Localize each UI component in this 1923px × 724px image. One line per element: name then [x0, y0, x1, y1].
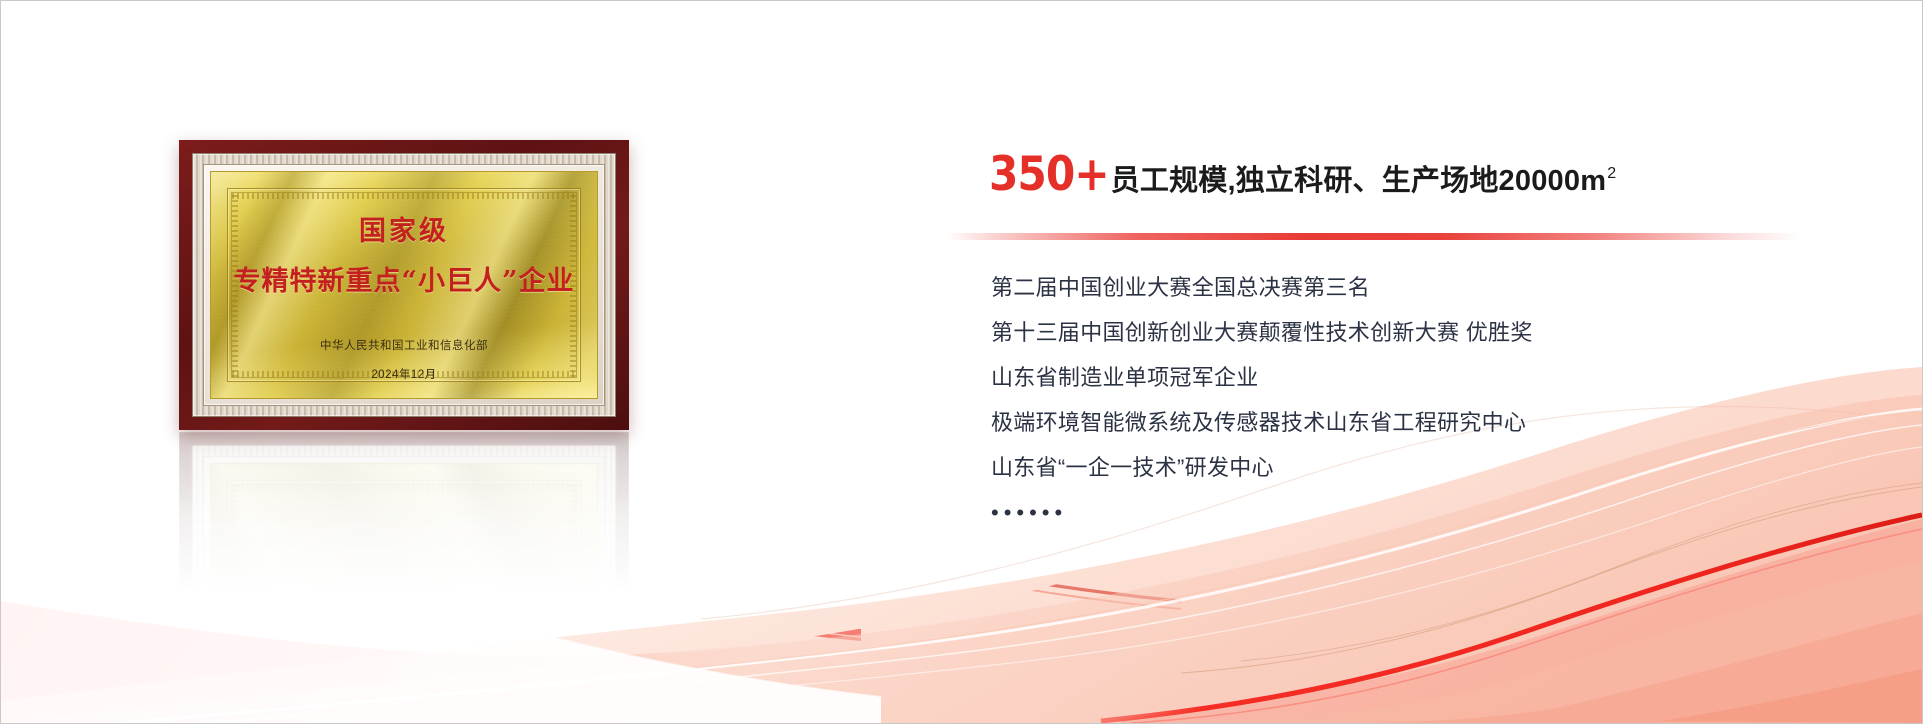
- headline-text: 员工规模,独立科研、生产场地20000m: [1111, 167, 1607, 196]
- award-plaque: 国家级 专精特新重点“小巨人”企业 中华人民共和国工业和信息化部 2024年12…: [179, 140, 629, 430]
- plaque-issuer: 中华人民共和国工业和信息化部: [320, 337, 488, 353]
- plaque-text-block: 国家级 专精特新重点“小巨人”企业 中华人民共和国工业和信息化部 2024年12…: [211, 172, 597, 398]
- plaque-title-line1: 国家级: [359, 218, 449, 245]
- award-list: 第二届中国创业大赛全国总决赛第三名 第十三届中国创新创业大赛颠覆性技术创新大赛 …: [991, 277, 1533, 524]
- plaque-gold-plate: 国家级 专精特新重点“小巨人”企业 中华人民共和国工业和信息化部 2024年12…: [210, 171, 598, 399]
- headline-number: 350+: [989, 151, 1109, 198]
- award-item-4: 极端环境智能微系统及传感器技术山东省工程研究中心: [991, 412, 1533, 434]
- banner-canvas: 国家级 专精特新重点“小巨人”企业 中华人民共和国工业和信息化部 2024年12…: [0, 0, 1923, 724]
- headline-superscript: 2: [1607, 166, 1616, 182]
- plaque-body: 国家级 专精特新重点“小巨人”企业 中华人民共和国工业和信息化部 2024年12…: [179, 140, 629, 430]
- headline: 350+ 员工规模,独立科研、生产场地20000m 2: [989, 151, 1869, 198]
- headline-divider: [946, 233, 1801, 240]
- plaque-title-line2: 专精特新重点“小巨人”企业: [233, 268, 574, 295]
- award-list-ellipsis: ••••••: [991, 502, 1533, 524]
- award-item-5: 山东省“一企一技术”研发中心: [991, 457, 1533, 479]
- award-item-2: 第十三届中国创新创业大赛颠覆性技术创新大赛 优胜奖: [991, 322, 1533, 344]
- plaque-frame-outer: 国家级 专精特新重点“小巨人”企业 中华人民共和国工业和信息化部 2024年12…: [192, 153, 616, 417]
- headline-block: 350+ 员工规模,独立科研、生产场地20000m 2: [989, 151, 1869, 198]
- award-item-3: 山东省制造业单项冠军企业: [991, 367, 1533, 389]
- award-item-1: 第二届中国创业大赛全国总决赛第三名: [991, 277, 1533, 299]
- plaque-frame-mid: 国家级 专精特新重点“小巨人”企业 中华人民共和国工业和信息化部 2024年12…: [203, 164, 605, 406]
- plaque-date: 2024年12月: [371, 366, 436, 382]
